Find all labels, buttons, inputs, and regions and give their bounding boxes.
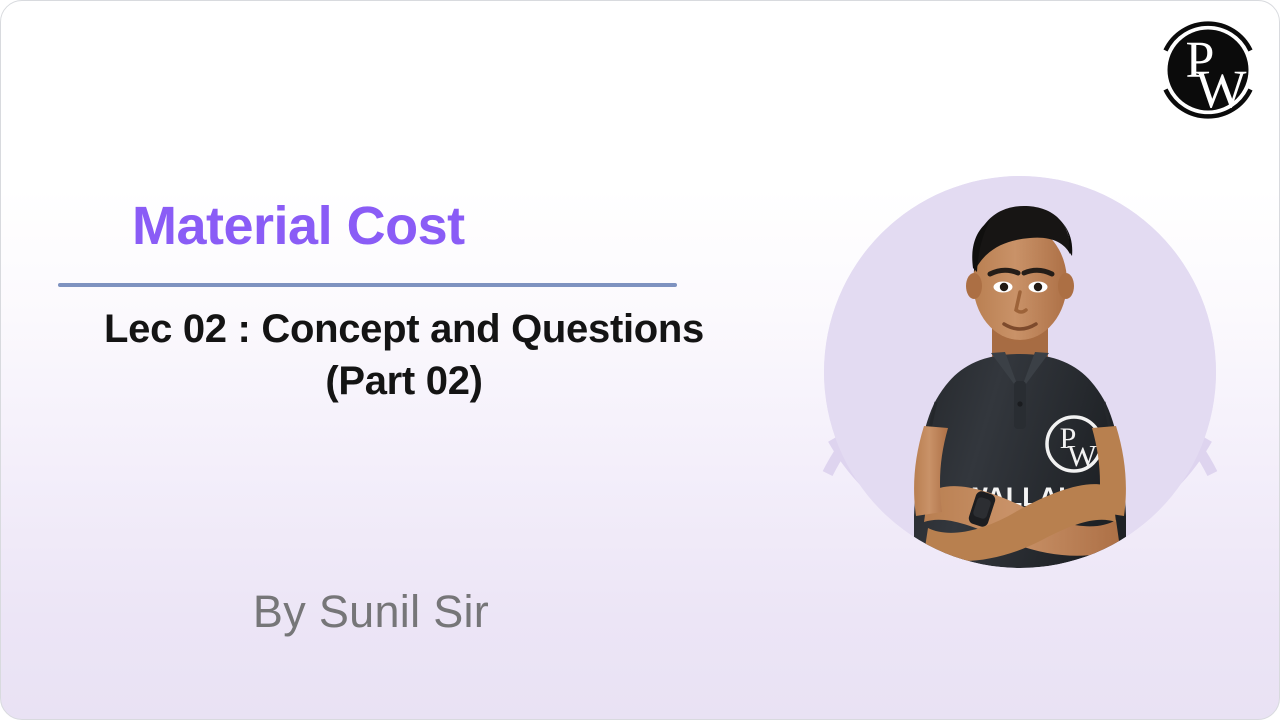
pw-logo-icon: P W xyxy=(1145,7,1271,133)
svg-text:W: W xyxy=(1067,438,1097,473)
lecture-subtitle-line1: Lec 02 : Concept and Questions xyxy=(1,303,807,355)
slide-canvas: P W Material Cost Lec 02 : Concept and Q… xyxy=(0,0,1280,720)
page-title: Material Cost xyxy=(132,198,465,255)
instructor-byline: By Sunil Sir xyxy=(1,586,741,638)
logo-letter-w: W xyxy=(1196,59,1247,119)
instructor-figure: P W WALLAH xyxy=(824,176,1216,568)
portrait-photo: P W WALLAH xyxy=(824,176,1216,568)
title-divider xyxy=(58,283,677,287)
lecture-subtitle: Lec 02 : Concept and Questions (Part 02) xyxy=(1,303,807,407)
instructor-portrait: P W WALLAH xyxy=(799,149,1241,601)
lecture-subtitle-line2: (Part 02) xyxy=(1,355,807,407)
